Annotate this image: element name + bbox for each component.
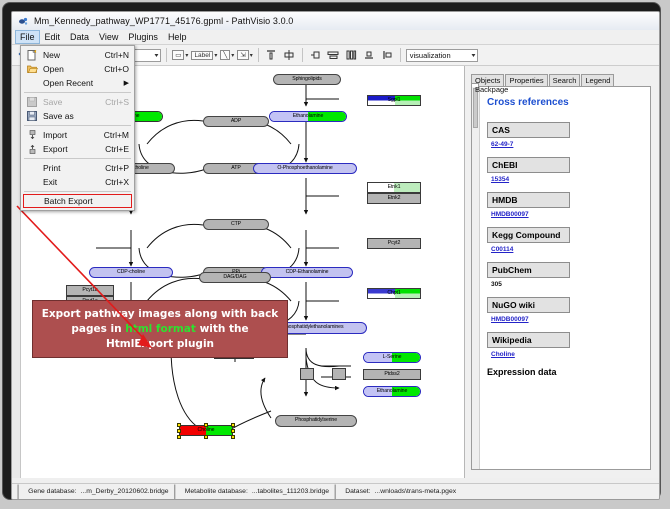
menu-data[interactable]: Data bbox=[65, 30, 94, 44]
menu-item-print[interactable]: Print Ctrl+P bbox=[21, 161, 134, 175]
menu-item-exit[interactable]: Exit Ctrl+X bbox=[21, 175, 134, 189]
xref-value-hmdb[interactable]: HMDB00097 bbox=[491, 211, 644, 218]
title-bar: Mm_Kennedy_pathway_WP1771_45176.gpml - P… bbox=[12, 12, 659, 31]
menu-separator bbox=[24, 191, 131, 192]
status-metabolite-database-label: Metabolite database: bbox=[181, 488, 248, 495]
menu-edit[interactable]: Edit bbox=[40, 30, 66, 44]
expression-data-heading: Expression data bbox=[487, 367, 644, 377]
callout-highlight: html format bbox=[125, 323, 196, 335]
align-middle-icon[interactable] bbox=[282, 48, 297, 63]
menu-separator bbox=[24, 158, 131, 159]
export-icon bbox=[21, 144, 43, 154]
callout-line1: Export pathway images along with back bbox=[42, 308, 279, 320]
selection-handle[interactable] bbox=[204, 423, 208, 427]
annotation-callout: Export pathway images along with back pa… bbox=[32, 300, 288, 358]
menu-item-save-as[interactable]: Save as bbox=[21, 109, 134, 123]
node-ethanolamine-top[interactable]: Ethanolamine bbox=[269, 111, 347, 122]
distribute-horizontal-icon[interactable] bbox=[326, 48, 341, 63]
node-label: CDP-Ethanolamine bbox=[286, 270, 329, 275]
stack-icon[interactable] bbox=[380, 48, 395, 63]
backpage-scrollbar[interactable] bbox=[472, 87, 480, 469]
node-label: Choline bbox=[198, 428, 215, 433]
scrollbar-thumb[interactable] bbox=[473, 88, 478, 128]
align-left-icon[interactable] bbox=[308, 48, 323, 63]
callout-line2-before: pages in bbox=[71, 323, 125, 335]
toolbar-separator bbox=[400, 48, 401, 62]
node-label: O-Phosphoethanolamine bbox=[277, 166, 332, 171]
window-title: Mm_Kennedy_pathway_WP1771_45176.gpml - P… bbox=[34, 16, 293, 26]
menu-separator bbox=[24, 125, 131, 126]
chevron-down-icon: ▾ bbox=[231, 52, 234, 59]
selection-handle[interactable] bbox=[177, 429, 181, 433]
group-icon[interactable] bbox=[362, 48, 377, 63]
menu-item-batch-export[interactable]: Batch Export bbox=[23, 194, 132, 208]
chevron-down-icon: ▾ bbox=[250, 52, 253, 59]
node-label: CTP bbox=[231, 222, 241, 227]
menu-bar[interactable]: File Edit Data View Plugins Help bbox=[12, 30, 659, 45]
chevron-down-icon: ▾ bbox=[185, 52, 188, 59]
xref-value-nugo-wiki[interactable]: HMDB00097 bbox=[491, 316, 644, 323]
chevron-right-icon: ▶ bbox=[124, 79, 134, 87]
tab-backpage[interactable]: Backpage bbox=[471, 83, 479, 87]
node-label: ADP bbox=[231, 119, 241, 124]
gene-etnk2[interactable]: Etnk2 bbox=[367, 193, 421, 204]
menu-help[interactable]: Help bbox=[163, 30, 192, 44]
status-dataset-value: ...wnloads\trans-meta.pgex bbox=[371, 488, 457, 495]
menu-item-export-shortcut: Ctrl+E bbox=[105, 144, 134, 154]
align-top-icon[interactable] bbox=[264, 48, 279, 63]
status-divider: | bbox=[329, 483, 341, 501]
menu-item-open-recent[interactable]: Open Recent ▶ bbox=[21, 76, 134, 90]
node-l-serine[interactable]: L-Serine bbox=[363, 352, 421, 363]
node-dagdag[interactable]: DAG/DAG bbox=[199, 272, 271, 283]
xref-header-pubchem: PubChem bbox=[487, 262, 570, 278]
backpage-content: Cross references CAS 62-49-7 ChEBI 15354… bbox=[481, 87, 650, 469]
visualization-combobox[interactable]: visualization ▾ bbox=[406, 49, 478, 62]
xref-value-pubchem: 305 bbox=[491, 281, 644, 288]
menu-item-print-label: Print bbox=[43, 163, 105, 173]
pathvisio-window: Mm_Kennedy_pathway_WP1771_45176.gpml - P… bbox=[11, 11, 660, 500]
menu-item-exit-shortcut: Ctrl+X bbox=[105, 177, 134, 187]
menu-item-import[interactable]: Import Ctrl+M bbox=[21, 128, 134, 142]
line-icon: ╲ bbox=[220, 50, 230, 60]
toolbar-separator bbox=[166, 48, 167, 62]
gene-chpt1[interactable]: Chpt1 bbox=[367, 288, 421, 299]
status-bar: | Gene database: ...m_Derby_20120602.bri… bbox=[12, 483, 659, 499]
gene-label: Sgpl1 bbox=[388, 98, 401, 103]
node-ctp[interactable]: CTP bbox=[203, 219, 269, 230]
node-label: Phosphatidylserine bbox=[295, 418, 337, 423]
visualization-value: visualization bbox=[410, 51, 451, 60]
gene-label: Etnk2 bbox=[388, 196, 401, 201]
menu-item-open-shortcut: Ctrl+O bbox=[104, 64, 134, 74]
node-label: DAG/DAG bbox=[223, 275, 246, 280]
menu-item-new-label: New bbox=[43, 50, 105, 60]
callout-line3: HtmlExport plugin bbox=[106, 338, 214, 350]
window-frame: Mm_Kennedy_pathway_WP1771_45176.gpml - P… bbox=[3, 3, 660, 499]
cross-references-heading: Cross references bbox=[487, 97, 644, 108]
selection-handle[interactable] bbox=[231, 423, 235, 427]
label-dropdown-text: Label bbox=[191, 51, 213, 60]
xref-value-wikipedia[interactable]: Choline bbox=[491, 351, 644, 358]
chevron-down-icon: ▾ bbox=[155, 52, 159, 59]
save-icon bbox=[21, 97, 43, 107]
node-cdp-ethanolamine[interactable]: CDP-Ethanolamine bbox=[261, 267, 353, 278]
status-gene-database-label: Gene database: bbox=[24, 488, 76, 495]
xref-header-hmdb: HMDB bbox=[487, 192, 570, 208]
menu-file[interactable]: File bbox=[15, 30, 40, 44]
interaction-icon: ⇲ bbox=[237, 50, 248, 60]
menu-item-save-label: Save bbox=[43, 97, 105, 107]
xref-header-kegg-compound: Kegg Compound bbox=[487, 227, 570, 243]
node-label: Sphingolipids bbox=[292, 77, 322, 82]
toolbar-separator bbox=[302, 48, 303, 62]
menu-separator bbox=[24, 92, 131, 93]
xref-value-cas[interactable]: 62-49-7 bbox=[491, 141, 644, 148]
save-as-icon bbox=[21, 111, 43, 121]
menu-item-new-shortcut: Ctrl+N bbox=[105, 50, 134, 60]
menu-item-print-shortcut: Ctrl+P bbox=[105, 163, 134, 173]
selection-handle[interactable] bbox=[231, 429, 235, 433]
chevron-down-icon: ▾ bbox=[471, 52, 475, 59]
status-metabolite-database-value: ...tabolites_111203.bridge bbox=[248, 488, 329, 495]
node-label: Ethanolamine bbox=[293, 114, 324, 119]
pathvisio-icon bbox=[18, 16, 29, 27]
side-panel-tabs[interactable]: Objects Properties Backpage Search Legen… bbox=[471, 73, 657, 87]
gene-ptdss2[interactable]: Ptdss2 bbox=[363, 369, 421, 380]
status-divider: | bbox=[12, 483, 24, 501]
xref-header-wikipedia: Wikipedia bbox=[487, 332, 570, 348]
anchor-box-left[interactable] bbox=[300, 368, 314, 380]
node-sphingolipids[interactable]: Sphingolipids bbox=[273, 74, 341, 85]
menu-item-open-recent-label: Open Recent bbox=[43, 78, 124, 88]
label-dropdown[interactable]: Label ▾ bbox=[191, 51, 217, 60]
menu-item-export-label: Export bbox=[43, 144, 105, 154]
line-dropdown[interactable]: ╲ ▾ bbox=[220, 50, 234, 60]
gene-label: Pcyt1b bbox=[82, 288, 97, 293]
shape-dropdown[interactable]: ▭ ▾ bbox=[172, 50, 188, 60]
menu-item-batch-export-label: Batch Export bbox=[44, 196, 131, 206]
node-label: Phosphatidylethanolamines bbox=[283, 325, 344, 330]
callout-line2-after: with the bbox=[196, 323, 249, 335]
gene-etnk1[interactable]: Etnk1 bbox=[367, 182, 421, 193]
file-menu-dropdown[interactable]: New Ctrl+N Open Ctrl+O Open Recent ▶ bbox=[20, 45, 135, 211]
selection-handle[interactable] bbox=[177, 435, 181, 439]
menu-item-import-shortcut: Ctrl+M bbox=[104, 130, 134, 140]
node-adp[interactable]: ADP bbox=[203, 116, 269, 127]
gene-label: Chpt1 bbox=[387, 291, 400, 296]
menu-item-save-as-label: Save as bbox=[43, 111, 134, 121]
menu-item-import-label: Import bbox=[43, 130, 104, 140]
backpage-panel: Cross references CAS 62-49-7 ChEBI 15354… bbox=[471, 86, 651, 470]
menu-item-export[interactable]: Export Ctrl+E bbox=[21, 142, 134, 156]
gene-sgpl1[interactable]: Sgpl1 bbox=[367, 95, 421, 106]
new-file-icon bbox=[21, 50, 43, 61]
import-icon bbox=[21, 130, 43, 140]
interaction-dropdown[interactable]: ⇲ ▾ bbox=[237, 50, 252, 60]
menu-view[interactable]: View bbox=[94, 30, 123, 44]
status-divider: | bbox=[169, 483, 181, 501]
toolbar-separator bbox=[258, 48, 259, 62]
gene-pcyt1b[interactable]: Pcyt1b bbox=[66, 285, 114, 296]
node-label: ATP bbox=[231, 166, 240, 171]
anchor-box-right[interactable] bbox=[332, 368, 346, 380]
menu-item-open[interactable]: Open Ctrl+O bbox=[21, 62, 134, 76]
node-label: L-Serine bbox=[383, 355, 402, 360]
gene-label: Pcyt2 bbox=[388, 241, 400, 246]
xref-value-kegg-compound[interactable]: C00114 bbox=[491, 246, 644, 253]
menu-item-save: Save Ctrl+S bbox=[21, 95, 134, 109]
screen: Mm_Kennedy_pathway_WP1771_45176.gpml - P… bbox=[0, 0, 670, 509]
node-ethanolamine-bottom[interactable]: Ethanolamine bbox=[363, 386, 421, 397]
folder-open-icon bbox=[21, 64, 43, 74]
xref-header-chebi: ChEBI bbox=[487, 157, 570, 173]
menu-plugins[interactable]: Plugins bbox=[123, 30, 163, 44]
chevron-down-icon: ▾ bbox=[214, 52, 217, 59]
node-cdp-choline[interactable]: CDP-choline bbox=[89, 267, 173, 278]
shape-icon: ▭ bbox=[172, 50, 184, 60]
status-dataset-label: Dataset: bbox=[341, 488, 370, 495]
gene-label: Etnk1 bbox=[388, 185, 401, 190]
menu-item-open-label: Open bbox=[43, 64, 104, 74]
menu-item-save-shortcut: Ctrl+S bbox=[105, 97, 134, 107]
menu-item-exit-label: Exit bbox=[43, 177, 105, 187]
selection-handle[interactable] bbox=[231, 435, 235, 439]
menu-item-new[interactable]: New Ctrl+N bbox=[21, 48, 134, 62]
node-label: CDP-choline bbox=[117, 270, 145, 275]
gene-pcyt2[interactable]: Pcyt2 bbox=[367, 238, 421, 249]
side-panel: Objects Properties Backpage Search Legen… bbox=[465, 66, 659, 478]
node-o-phosphoethanolamine[interactable]: O-Phosphoethanolamine bbox=[253, 163, 357, 174]
distribute-vertical-icon[interactable] bbox=[344, 48, 359, 63]
xref-header-cas: CAS bbox=[487, 122, 570, 138]
node-label: Ethanolamine bbox=[377, 389, 408, 394]
selection-handle[interactable] bbox=[204, 435, 208, 439]
xref-value-chebi[interactable]: 15354 bbox=[491, 176, 644, 183]
status-gene-database-value: ...m_Derby_20120602.bridge bbox=[77, 488, 169, 495]
node-phosphatidylserine[interactable]: Phosphatidylserine bbox=[275, 415, 357, 427]
selection-handle[interactable] bbox=[177, 423, 181, 427]
gene-label: Ptdss2 bbox=[384, 372, 399, 377]
xref-header-nugo-wiki: NuGO wiki bbox=[487, 297, 570, 313]
